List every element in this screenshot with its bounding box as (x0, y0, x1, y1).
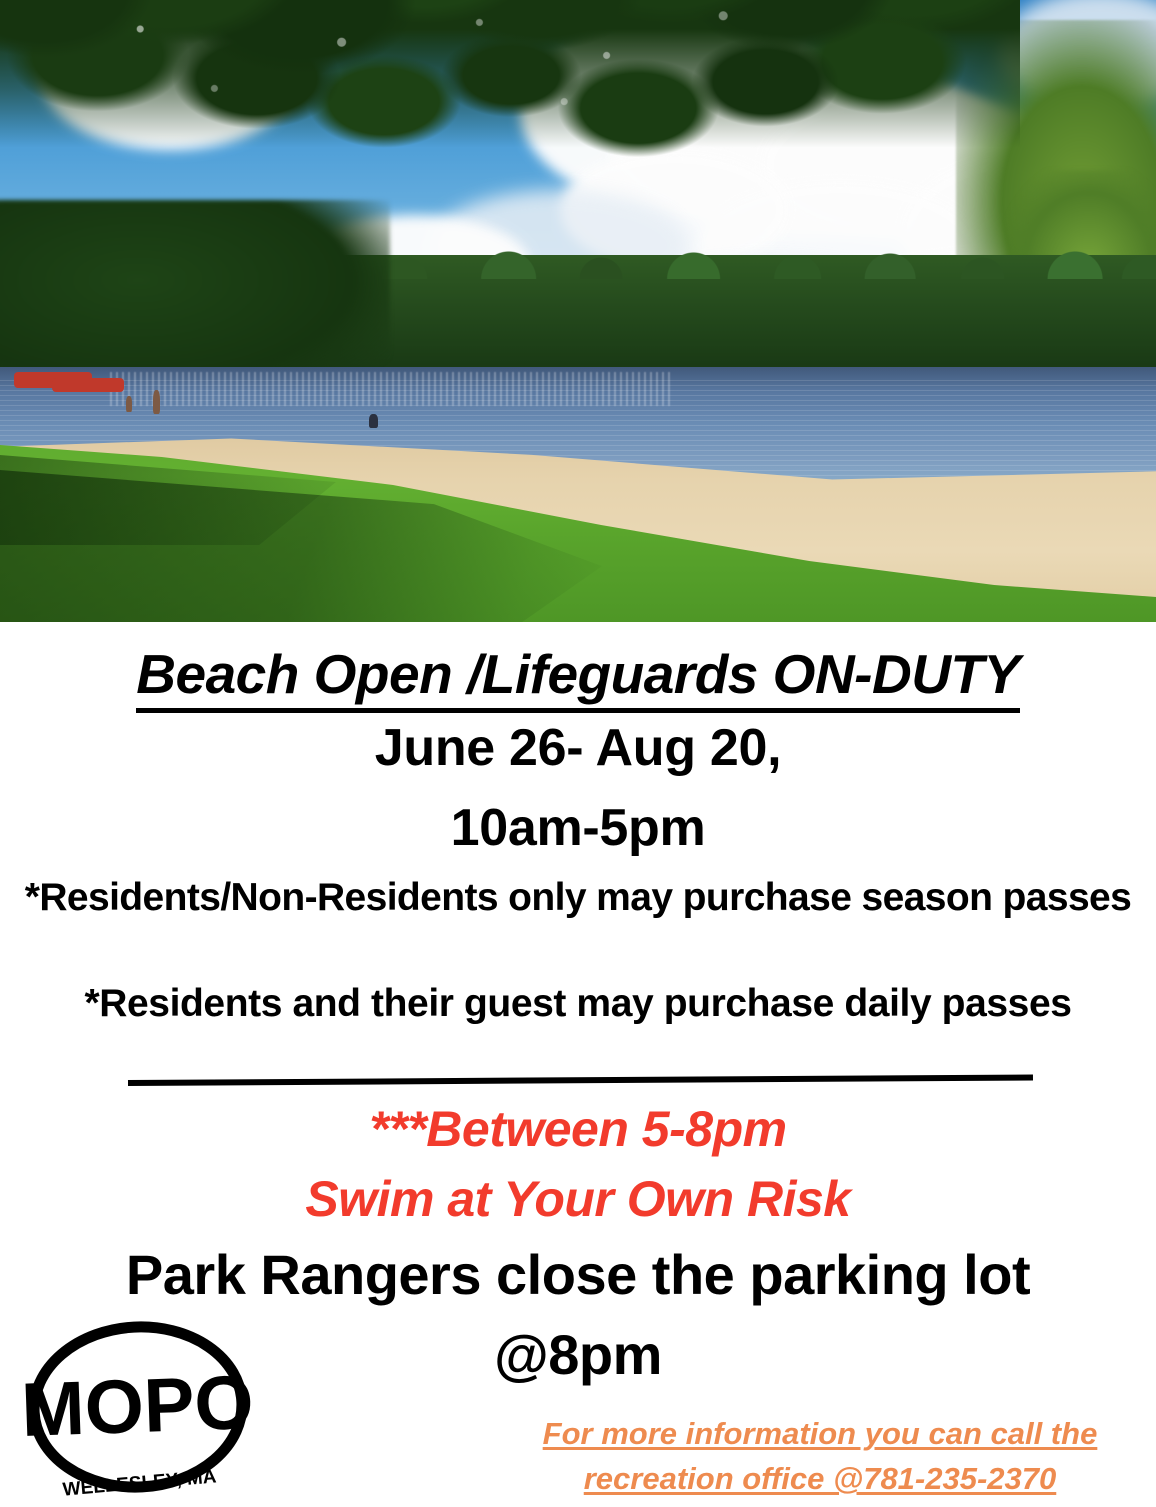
daily-pass-note: *Residents and their guest may purchase … (4, 982, 1152, 1026)
flyer-title-text: Beach Open /Lifeguards ON-DUTY (136, 642, 1019, 713)
horizontal-divider (128, 1074, 1033, 1086)
beach-flyer: Beach Open /Lifeguards ON-DUTY June 26- … (0, 0, 1156, 1496)
contact-line-1: For more information you can call the (543, 1416, 1098, 1451)
swimmer-2 (153, 390, 160, 414)
contact-line-2: recreation office @781-235-2370 (584, 1461, 1057, 1496)
swimmer-1 (126, 396, 132, 412)
logo-mopo-text: MOPO (20, 1360, 255, 1453)
canopy-sky-gaps (0, 0, 1020, 260)
season-hours: 10am-5pm (0, 798, 1156, 858)
season-pass-note: *Residents/Non-Residents only may purcha… (4, 876, 1152, 920)
mopo-logo: MOPO WELLESLEY, MA (18, 1312, 268, 1507)
flyer-title: Beach Open /Lifeguards ON-DUTY (0, 642, 1156, 713)
mopo-logo-svg: MOPO WELLESLEY, MA (18, 1312, 268, 1507)
flyer-text-block: Beach Open /Lifeguards ON-DUTY June 26- … (0, 622, 1156, 1496)
beach-photo (0, 0, 1156, 622)
park-rangers-line: Park Rangers close the parking lot (0, 1242, 1156, 1307)
swimmer-3 (369, 414, 378, 428)
red-boat-2 (52, 378, 124, 392)
water-sparkle (110, 372, 670, 406)
contact-info: For more information you can call the re… (500, 1412, 1140, 1502)
warning-time: ***Between 5-8pm (0, 1100, 1156, 1158)
warning-swim-risk: Swim at Your Own Risk (0, 1170, 1156, 1228)
season-dates: June 26- Aug 20, (0, 718, 1156, 778)
